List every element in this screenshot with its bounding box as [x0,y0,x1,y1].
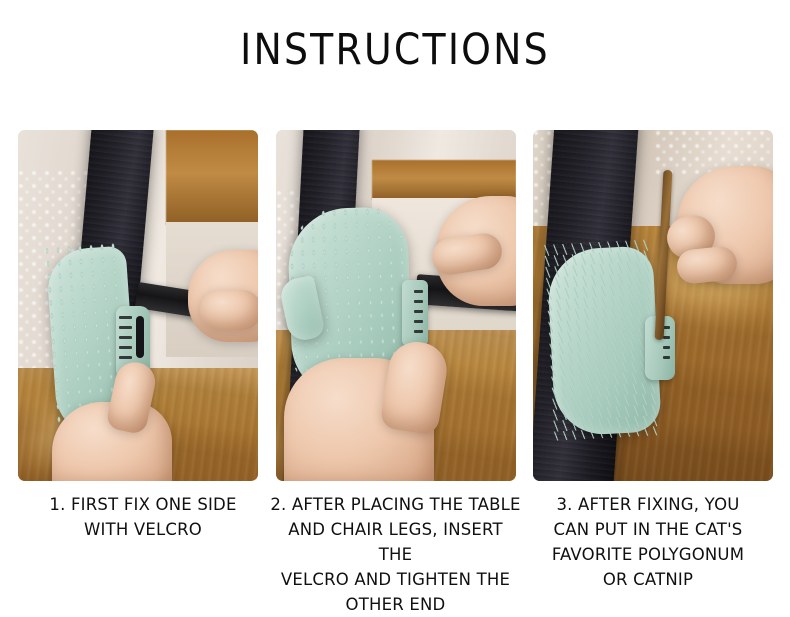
page-title: INSTRUCTIONS [47,24,742,76]
photo-scene-3 [533,130,773,481]
tab-ridge [414,320,423,323]
captions-row: 1. FIRST FIX ONE SIDE WITH VELCRO 2. AFT… [18,492,773,617]
tab-ridge [663,346,670,349]
photo-scene-1 [18,130,258,481]
tab-ridge [414,300,423,303]
step-1-photo [18,130,258,481]
tab-ridge [119,346,132,349]
tab-ridge [663,336,670,339]
step-2-photo [276,130,516,481]
tab-ridge [119,356,132,359]
right-thumb [200,290,258,330]
brush-strap-slot [136,316,144,358]
tab-ridge [119,316,132,319]
tab-ridge [119,336,132,339]
step-2-caption: 2. AFTER PLACING THE TABLE AND CHAIR LEG… [270,492,522,617]
tab-ridge [119,326,132,329]
step-3-photo [533,130,773,481]
instructions-page: INSTRUCTIONS [0,0,790,608]
step-1-caption: 1. FIRST FIX ONE SIDE WITH VELCRO [18,492,268,617]
photo-scene-2 [276,130,516,481]
tab-ridge [414,310,423,313]
tab-ridge [414,330,423,333]
tab-ridge [663,356,670,359]
table-top-edge [166,130,258,225]
step-3-caption: 3. AFTER FIXING, YOU CAN PUT IN THE CAT'… [523,492,773,617]
step-photos-row [18,130,773,481]
table-top-edge [372,160,516,200]
tab-ridge [414,290,423,293]
